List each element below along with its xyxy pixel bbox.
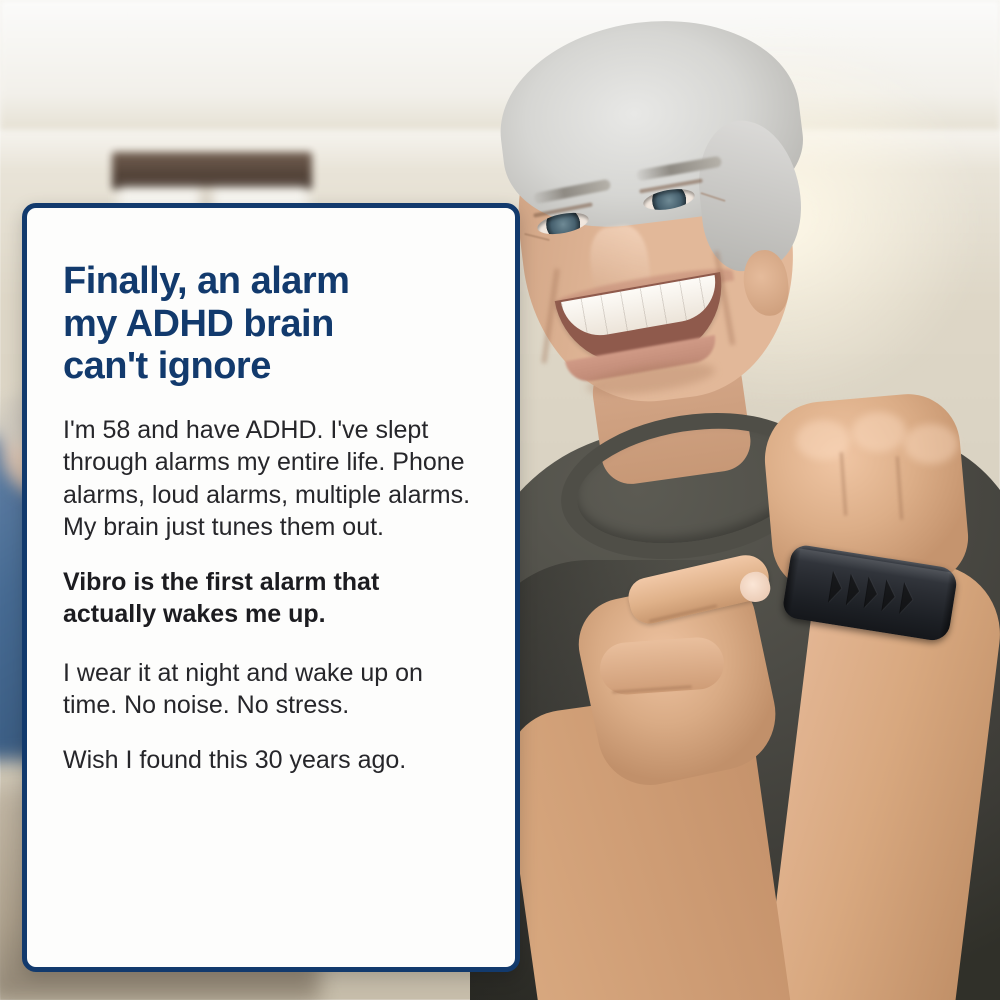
chevron-icon [828,571,844,604]
testimonial-paragraph-1: I'm 58 and have ADHD. I've slept through… [63,414,479,544]
chevron-icon [881,579,897,612]
chevron-icon [846,574,862,607]
testimonial-headline: Finally, an alarm my ADHD brain can't ig… [63,260,479,388]
knuckle-2 [852,412,906,452]
testimonial-paragraph-2-bold: Vibro is the first alarm that actually w… [63,566,479,631]
chevron-icon [899,582,915,615]
knuckle-3 [904,424,958,464]
testimonial-paragraph-4: Wish I found this 30 years ago. [63,744,479,777]
testimonial-paragraph-3: I wear it at night and wake up on time. … [63,657,479,722]
testimonial-card: Finally, an alarm my ADHD brain can't ig… [22,203,520,972]
ad-creative: Finally, an alarm my ADHD brain can't ig… [0,0,1000,1000]
chevron-icon [864,577,880,610]
